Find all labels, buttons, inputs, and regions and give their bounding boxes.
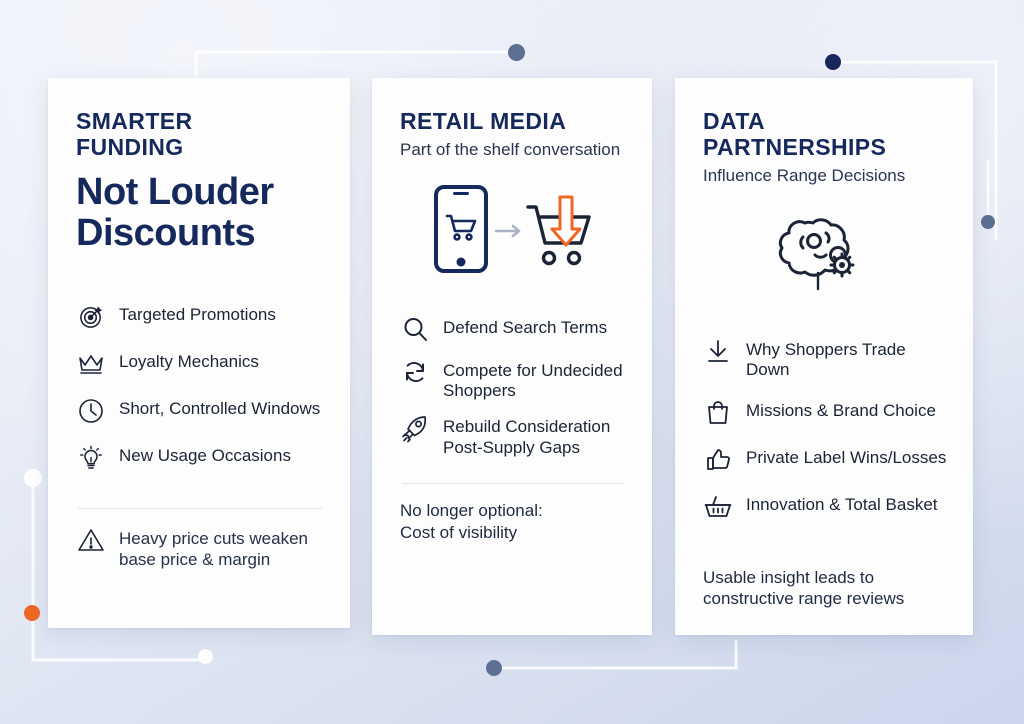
- card1-divider: [78, 508, 322, 509]
- connector-bottom-path: [494, 640, 736, 668]
- list-item: Targeted Promotions: [76, 302, 324, 332]
- card2-kicker: RETAIL MEDIA: [400, 108, 626, 134]
- card2-footer: No longer optional: Cost of visibility: [400, 500, 626, 570]
- clock-icon: [76, 396, 106, 426]
- list-item-label: Compete for Undecided Shoppers: [443, 358, 626, 402]
- card2-footer-line1: No longer optional:: [400, 501, 543, 520]
- list-item: Innovation & Total Basket: [703, 492, 947, 522]
- card1-footer-line2: base price & margin: [119, 550, 270, 569]
- warning-triangle-icon: [76, 525, 106, 555]
- download-arrow-icon: [703, 337, 733, 367]
- card3-footer-line2: constructive range reviews: [703, 589, 904, 608]
- card-smarter-funding[interactable]: SMARTER FUNDING Not Louder Discounts: [48, 78, 350, 628]
- list-item-label: Why Shoppers Trade Down: [746, 337, 947, 381]
- card1-headline: Not Louder Discounts: [76, 172, 324, 253]
- card1-headline-line1: Not Louder: [76, 172, 324, 213]
- card2-divider: [402, 483, 624, 484]
- node-left-upper: [24, 469, 42, 487]
- card3-footer-line1: Usable insight leads to: [703, 568, 874, 587]
- list-item-label: Short, Controlled Windows: [119, 396, 320, 419]
- rocket-icon: [400, 414, 430, 444]
- node-right-edge: [981, 215, 995, 229]
- list-item-label: Missions & Brand Choice: [746, 398, 936, 421]
- brain-gear-icon: [703, 203, 947, 303]
- crown-icon: [76, 349, 106, 379]
- phone-to-cart-icon: [400, 177, 626, 281]
- list-item: Missions & Brand Choice: [703, 398, 947, 428]
- basket-icon: [703, 492, 733, 522]
- list-item: Short, Controlled Windows: [76, 396, 324, 426]
- card1-footer-line1: Heavy price cuts weaken: [119, 529, 308, 548]
- list-item-label: Innovation & Total Basket: [746, 492, 938, 515]
- card1-kicker-line1: SMARTER: [76, 108, 324, 134]
- list-item: New Usage Occasions: [76, 443, 324, 473]
- card1-kicker: SMARTER FUNDING: [76, 108, 324, 160]
- list-item: Private Label Wins/Losses: [703, 445, 947, 475]
- node-bottom-left: [198, 649, 213, 664]
- node-top-right: [825, 54, 841, 70]
- card-data-partnerships[interactable]: DATA PARTNERSHIPS Influence Range Decisi…: [675, 78, 973, 635]
- card1-headline-line2: Discounts: [76, 213, 324, 254]
- list-item: Rebuild Consideration Post-Supply Gaps: [400, 414, 626, 458]
- magnifier-icon: [400, 315, 430, 345]
- card1-bullet-list: Targeted Promotions Loyalty Mechanics: [76, 302, 324, 490]
- list-item: Loyalty Mechanics: [76, 349, 324, 379]
- thumbs-up-icon: [703, 445, 733, 475]
- refresh-cycle-icon: [400, 358, 430, 388]
- list-item: Defend Search Terms: [400, 315, 626, 345]
- shopping-bag-icon: [703, 398, 733, 428]
- list-item-label: New Usage Occasions: [119, 443, 291, 466]
- node-bottom-center: [486, 660, 502, 676]
- list-item: Why Shoppers Trade Down: [703, 337, 947, 381]
- card2-bullet-list: Defend Search Terms Compete for Undecide…: [400, 315, 626, 472]
- lightbulb-icon: [76, 443, 106, 473]
- node-top-center: [508, 44, 525, 61]
- list-item: Compete for Undecided Shoppers: [400, 358, 626, 402]
- target-icon: [76, 302, 106, 332]
- card3-footer: Usable insight leads to constructive ran…: [703, 567, 947, 637]
- card1-kicker-line2: FUNDING: [76, 134, 324, 160]
- list-item-label: Targeted Promotions: [119, 302, 276, 325]
- card3-subtitle: Influence Range Decisions: [703, 166, 947, 186]
- card1-footer: Heavy price cuts weaken base price & mar…: [76, 525, 324, 597]
- list-item-label: Defend Search Terms: [443, 315, 607, 338]
- list-item-label: Private Label Wins/Losses: [746, 445, 946, 468]
- node-left-orange: [24, 605, 40, 621]
- card-retail-media[interactable]: RETAIL MEDIA Part of the shelf conversat…: [372, 78, 652, 635]
- card2-footer-line2: Cost of visibility: [400, 523, 517, 542]
- infographic-canvas: SMARTER FUNDING Not Louder Discounts: [0, 0, 1024, 724]
- card3-kicker: DATA PARTNERSHIPS: [703, 108, 947, 160]
- card1-footer-text: Heavy price cuts weaken base price & mar…: [119, 525, 308, 571]
- card3-bullet-list: Why Shoppers Trade Down Missions & Brand…: [703, 337, 947, 539]
- list-item-label: Loyalty Mechanics: [119, 349, 259, 372]
- list-item-label: Rebuild Consideration Post-Supply Gaps: [443, 414, 626, 458]
- card2-subtitle: Part of the shelf conversation: [400, 140, 626, 160]
